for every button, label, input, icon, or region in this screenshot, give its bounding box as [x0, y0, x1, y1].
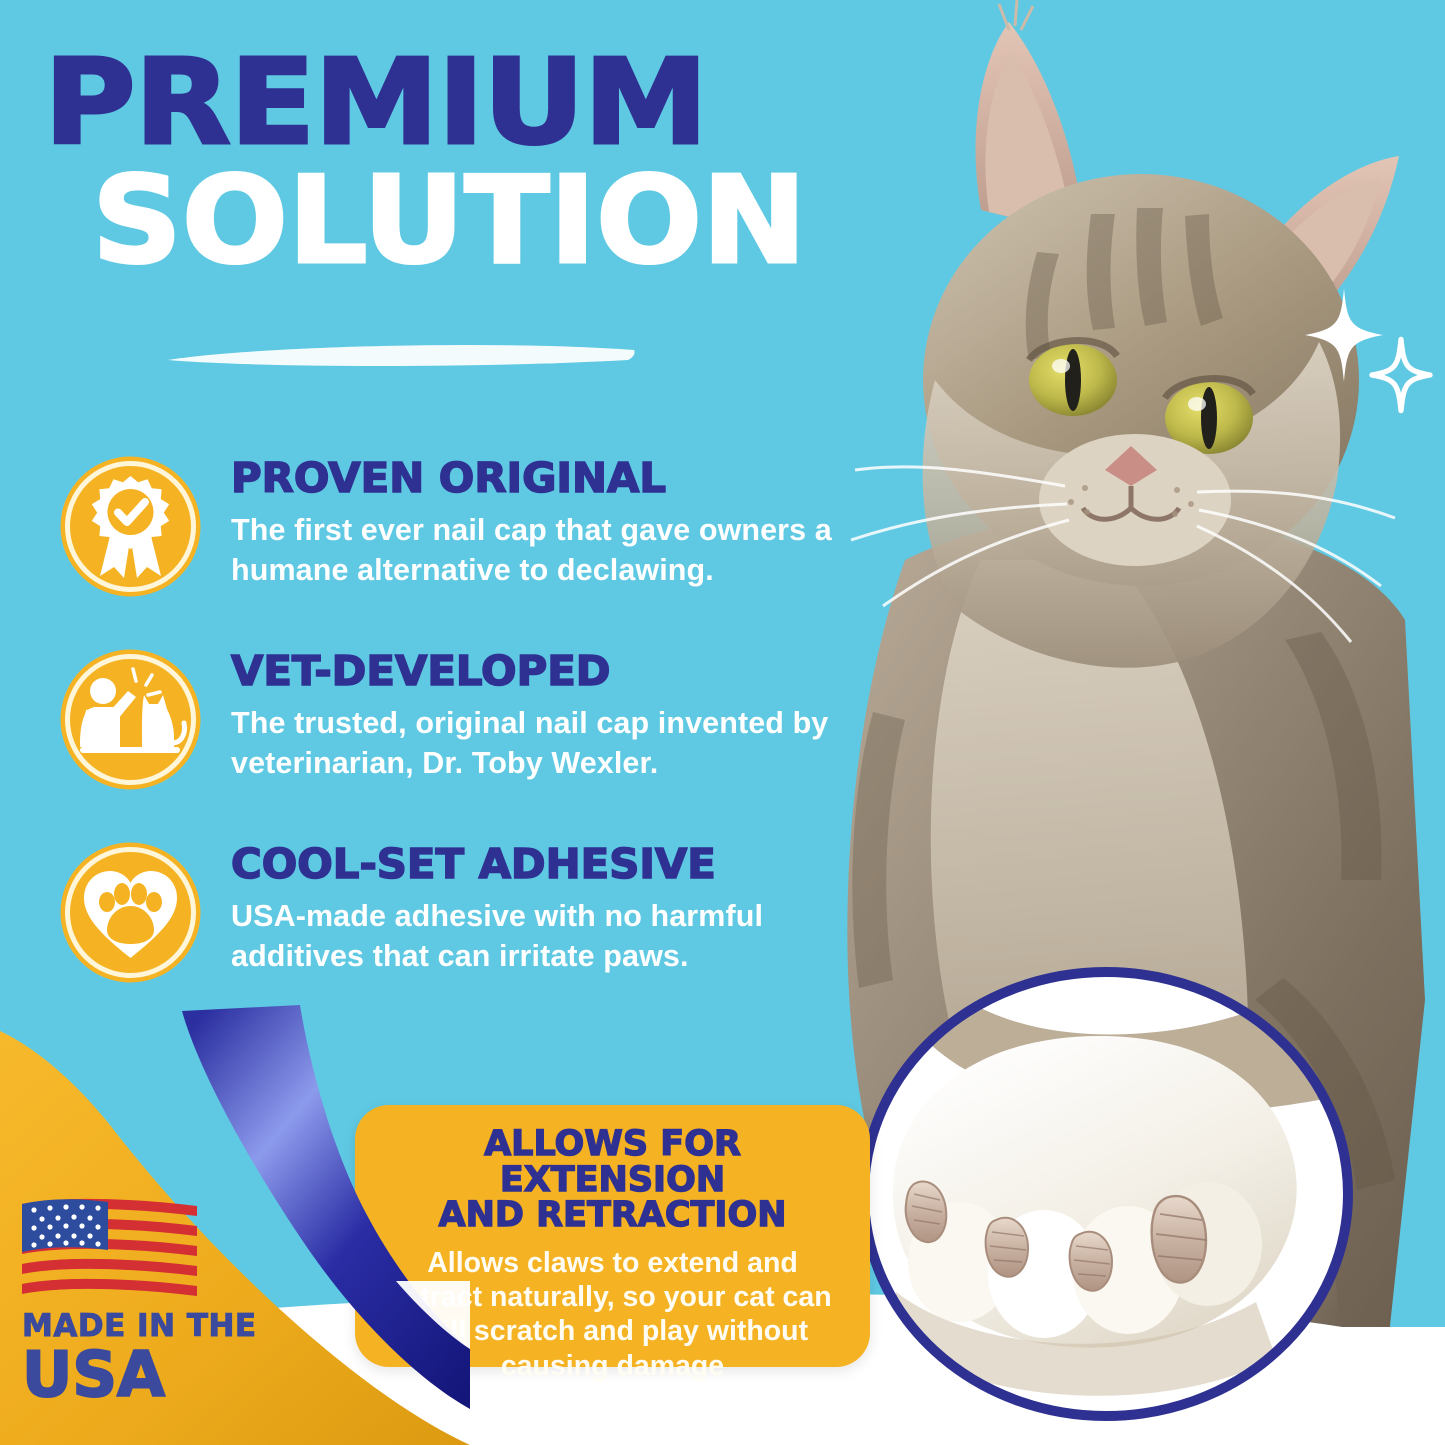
feature-title: VET-DEVELOPED [231, 651, 860, 692]
cat-paw-with-nail-caps-closeup [856, 962, 1356, 1432]
feature-body: USA-made adhesive with no harmful additi… [231, 897, 848, 976]
feature-body: The first ever nail cap that gave owners… [231, 511, 848, 590]
headline: PREMIUM SOLUTION [44, 46, 779, 282]
feature-title: PROVEN ORIGINAL [231, 458, 860, 499]
headline-line-solution: SOLUTION [92, 162, 806, 282]
feature-list: PROVEN ORIGINAL The first ever nail cap … [58, 450, 848, 1029]
vet-with-cat-icon [58, 647, 203, 792]
feature-item-cool-set-adhesive: COOL-SET ADHESIVE USA-made adhesive with… [58, 836, 848, 985]
feature-item-vet-developed: VET-DEVELOPED The trusted, original nail… [58, 643, 848, 792]
sparkle-outline-icon [1368, 335, 1434, 415]
made-in-usa-badge: MADE IN THE USA [22, 1196, 262, 1407]
made-in-usa-line-2: USA [22, 1342, 262, 1407]
swoosh-divider [166, 338, 636, 372]
heart-paw-icon [58, 840, 203, 985]
award-ribbon-icon [58, 454, 203, 599]
feature-item-proven-original: PROVEN ORIGINAL The first ever nail cap … [58, 450, 848, 599]
headline-line-premium: PREMIUM [44, 46, 823, 158]
feature-title: COOL-SET ADHESIVE [231, 844, 860, 885]
feature-body: The trusted, original nail cap invented … [231, 704, 848, 783]
product-infographic: PREMIUM SOLUTION [0, 0, 1445, 1445]
us-flag-icon [22, 1196, 197, 1301]
